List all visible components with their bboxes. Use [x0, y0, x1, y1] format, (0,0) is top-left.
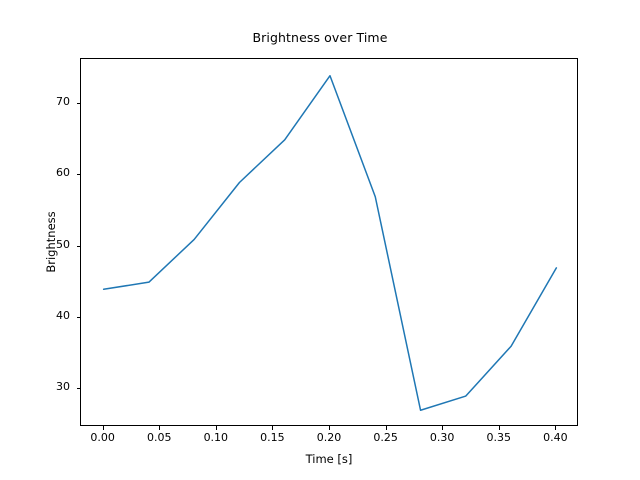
x-tick-mark	[216, 426, 217, 430]
x-tick-mark	[103, 426, 104, 430]
line-plot	[81, 59, 579, 427]
y-tick-label: 70	[20, 95, 70, 108]
x-tick-mark	[272, 426, 273, 430]
x-tick-mark	[329, 426, 330, 430]
y-axis-label-text: Brightness	[44, 211, 58, 272]
x-tick-label: 0.15	[242, 431, 302, 444]
x-tick-label: 0.25	[356, 431, 416, 444]
x-tick-mark	[442, 426, 443, 430]
x-tick-label: 0.00	[73, 431, 133, 444]
y-tick-label: 30	[20, 380, 70, 393]
x-tick-label: 0.10	[186, 431, 246, 444]
x-tick-label: 0.40	[525, 431, 585, 444]
x-tick-label: 0.20	[299, 431, 359, 444]
y-tick-mark	[77, 317, 81, 318]
x-tick-mark	[386, 426, 387, 430]
y-tick-mark	[77, 103, 81, 104]
x-tick-label: 0.30	[412, 431, 472, 444]
y-tick-mark	[77, 388, 81, 389]
y-tick-mark	[77, 174, 81, 175]
y-tick-mark	[77, 246, 81, 247]
data-series-line	[104, 76, 557, 411]
x-tick-mark	[499, 426, 500, 430]
x-tick-label: 0.05	[129, 431, 189, 444]
x-axis-label: Time [s]	[80, 452, 578, 466]
figure-canvas: Brightness over Time 0.000.050.100.150.2…	[0, 0, 640, 480]
chart-title: Brightness over Time	[0, 30, 640, 45]
y-tick-label: 40	[20, 309, 70, 322]
y-tick-label: 60	[20, 166, 70, 179]
x-tick-mark	[159, 426, 160, 430]
x-tick-mark	[555, 426, 556, 430]
x-tick-label: 0.35	[469, 431, 529, 444]
plot-axes	[80, 58, 578, 426]
